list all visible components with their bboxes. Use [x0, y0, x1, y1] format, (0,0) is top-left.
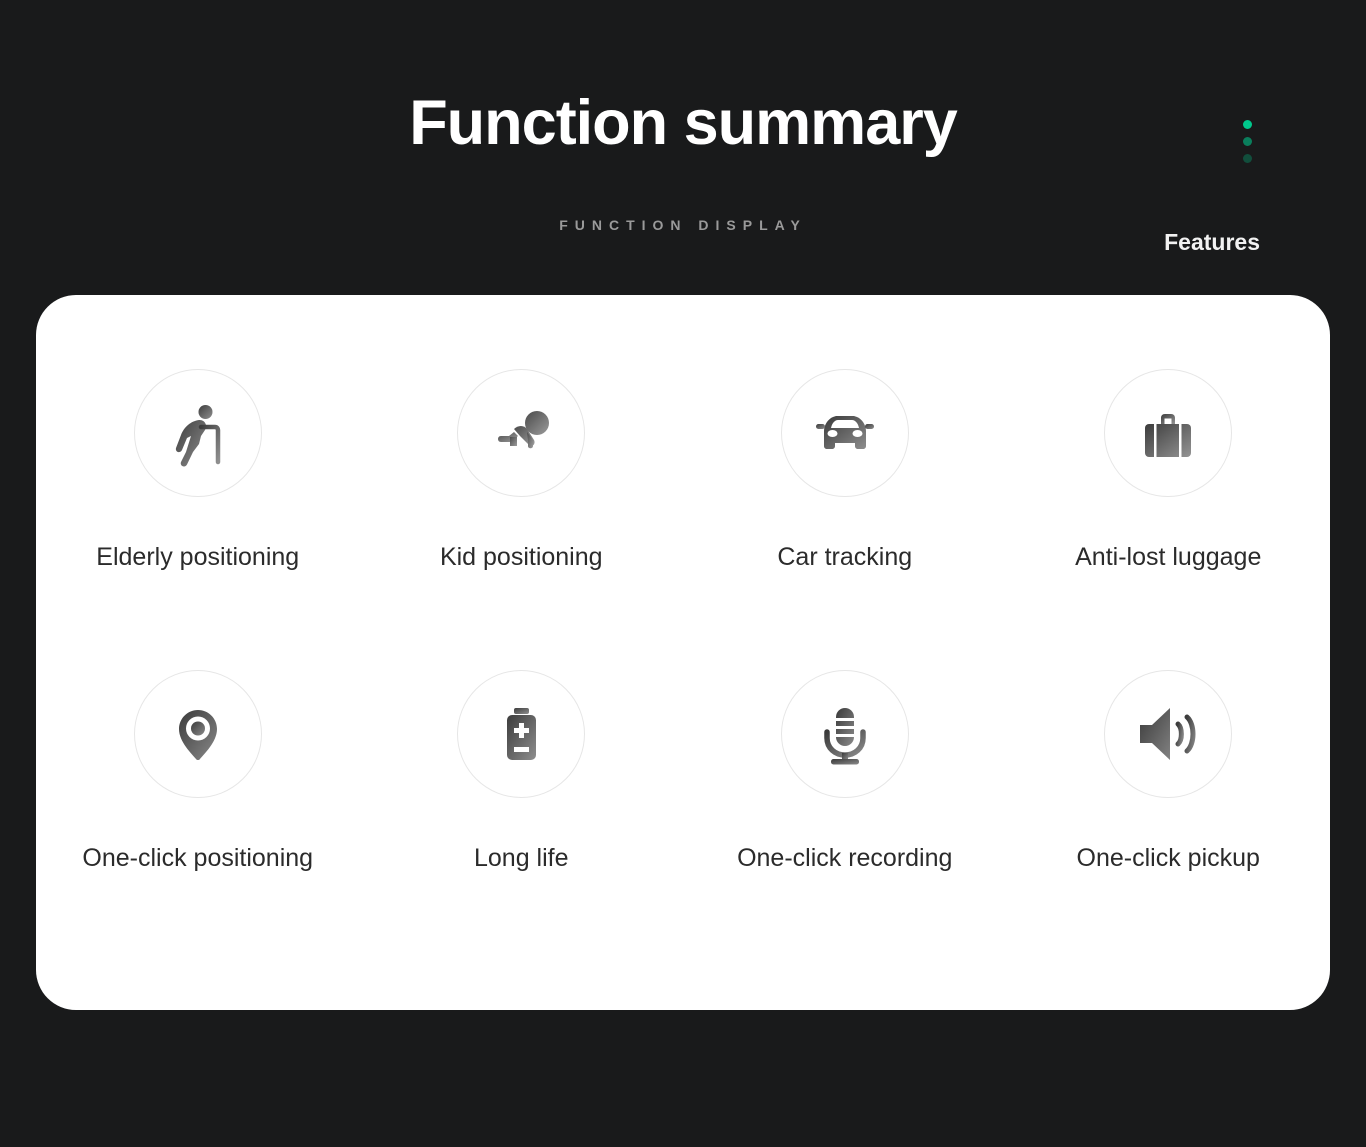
feature-item-long-life[interactable]: Long life	[360, 670, 684, 871]
icon-circle	[134, 369, 262, 497]
feature-item-anti-lost-luggage[interactable]: Anti-lost luggage	[1007, 369, 1331, 570]
icon-circle	[781, 369, 909, 497]
feature-label: Kid positioning	[440, 545, 603, 570]
page-title: Function summary	[0, 92, 1366, 155]
accent-dot-3	[1243, 154, 1252, 163]
microphone-icon	[808, 697, 882, 771]
feature-label: Elderly positioning	[96, 545, 299, 570]
feature-label: One-click recording	[737, 846, 952, 871]
icon-circle	[457, 369, 585, 497]
icon-circle	[1104, 670, 1232, 798]
feature-item-elderly-positioning[interactable]: Elderly positioning	[36, 369, 360, 570]
features-grid: Elderly positioning	[36, 369, 1330, 871]
icon-circle	[1104, 369, 1232, 497]
accent-dots-indicator	[1243, 120, 1257, 171]
icon-circle	[134, 670, 262, 798]
feature-item-one-click-recording[interactable]: One-click recording	[683, 670, 1007, 871]
accent-dot-1	[1243, 120, 1252, 129]
feature-label: Car tracking	[777, 545, 912, 570]
icon-circle	[457, 670, 585, 798]
car-front-icon	[806, 394, 884, 472]
feature-item-one-click-positioning[interactable]: One-click positioning	[36, 670, 360, 871]
feature-label: Long life	[474, 846, 569, 871]
feature-label: One-click positioning	[82, 846, 313, 871]
suitcase-icon	[1131, 396, 1205, 470]
icon-circle	[781, 670, 909, 798]
features-card: Elderly positioning	[36, 295, 1330, 1010]
crawling-baby-icon	[484, 396, 558, 470]
features-heading: Features	[1164, 231, 1260, 254]
battery-icon	[484, 697, 558, 771]
page-subtitle: FUNCTION DISPLAY	[0, 218, 1366, 232]
map-pin-icon	[161, 697, 235, 771]
feature-label: Anti-lost luggage	[1075, 545, 1261, 570]
accent-dot-2	[1243, 137, 1252, 146]
elderly-walking-icon	[161, 396, 235, 470]
feature-item-car-tracking[interactable]: Car tracking	[683, 369, 1007, 570]
feature-item-one-click-pickup[interactable]: One-click pickup	[1007, 670, 1331, 871]
page-header: Function summary FUNCTION DISPLAY Featur…	[0, 0, 1366, 290]
speaker-volume-icon	[1130, 696, 1206, 772]
feature-item-kid-positioning[interactable]: Kid positioning	[360, 369, 684, 570]
feature-label: One-click pickup	[1077, 846, 1260, 871]
